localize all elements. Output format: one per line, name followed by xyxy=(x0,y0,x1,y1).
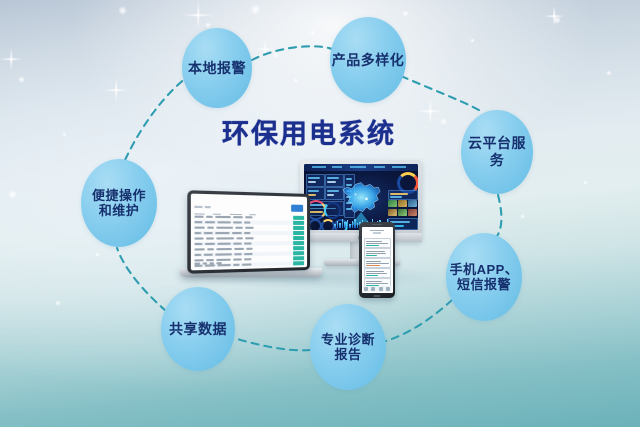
status-badge xyxy=(293,241,304,245)
smartphone xyxy=(359,222,395,298)
status-badge xyxy=(293,231,304,234)
gauge-chart xyxy=(321,219,335,230)
list-item[interactable] xyxy=(364,268,391,278)
connector-product-to-cloud xyxy=(401,76,482,112)
connector-cloud-to-app xyxy=(494,195,501,240)
feature-bubble-label: 本地报警 xyxy=(188,60,246,77)
table-row[interactable] xyxy=(194,225,304,230)
feature-bubble-label: 专业诊断 报告 xyxy=(321,332,375,363)
feature-bubble-shared-data[interactable]: 共享数据 xyxy=(161,287,235,371)
feature-bubble-label: 云平台服务 xyxy=(461,135,533,168)
phone-app-header xyxy=(365,229,390,235)
connector-report-to-data xyxy=(234,338,310,350)
feature-bubble-label: 产品多样化 xyxy=(332,52,405,69)
gauge-chart xyxy=(308,219,322,230)
table-toolbar xyxy=(194,197,304,205)
list-item[interactable] xyxy=(364,258,391,268)
feature-bubble-mobile-app-sms[interactable]: 手机APP、 短信报警 xyxy=(446,233,522,321)
analytics-dashboard xyxy=(304,164,418,230)
poster-canvas: 环保用电系统 xyxy=(0,0,640,427)
camera-tile xyxy=(388,200,397,207)
table-row[interactable] xyxy=(194,220,304,225)
feature-bubble-diagnostic-report[interactable]: 专业诊断 报告 xyxy=(310,304,386,390)
phone-speaker xyxy=(372,224,382,226)
camera-tile xyxy=(398,200,407,207)
status-badge xyxy=(293,221,304,225)
list-item[interactable] xyxy=(364,248,391,258)
connector-local-to-product xyxy=(252,46,334,60)
table-row[interactable] xyxy=(194,231,304,235)
feature-bubble-label: 便捷操作 和维护 xyxy=(92,188,146,219)
camera-tile xyxy=(398,209,407,216)
phone-bottom-nav[interactable] xyxy=(363,286,392,292)
table-filter-bar xyxy=(194,205,304,212)
laptop-screen xyxy=(191,194,307,271)
status-badge xyxy=(293,236,304,239)
camera-tile xyxy=(408,209,417,216)
nav-icon-alert[interactable] xyxy=(379,287,383,291)
feature-bubble-product-diversity[interactable]: 产品多样化 xyxy=(330,17,406,103)
nav-icon-home[interactable] xyxy=(364,287,368,291)
camera-tile xyxy=(388,209,397,216)
dashboard-header-bar xyxy=(304,164,418,171)
connector-data-to-operation xyxy=(117,248,166,311)
feature-bubble-label: 手机APP、 短信报警 xyxy=(450,262,519,293)
nav-icon-list[interactable] xyxy=(371,287,375,291)
dashboard-panel xyxy=(306,174,325,187)
feature-bubble-label: 共享数据 xyxy=(169,321,227,338)
nav-icon-profile[interactable] xyxy=(386,287,390,291)
dashboard-panel xyxy=(388,190,418,200)
table-row[interactable] xyxy=(194,236,304,241)
feature-bubble-easy-operation[interactable]: 便捷操作 和维护 xyxy=(81,159,157,247)
status-badge xyxy=(293,246,304,250)
table-action-button[interactable] xyxy=(291,205,303,212)
status-badge xyxy=(293,226,304,229)
camera-tile xyxy=(408,200,417,207)
list-item[interactable] xyxy=(364,238,391,248)
status-badge xyxy=(293,251,304,255)
status-badge xyxy=(293,216,304,220)
laptop-lid xyxy=(187,190,310,274)
monitor-screen xyxy=(304,164,418,230)
page-title: 环保用电系统 xyxy=(222,112,432,151)
feature-bubble-local-alarm[interactable]: 本地报警 xyxy=(182,28,252,108)
device-group xyxy=(196,160,432,322)
feature-bubble-cloud-platform[interactable]: 云平台服务 xyxy=(461,110,533,194)
phone-screen xyxy=(362,227,393,293)
connector-operation-to-local xyxy=(125,78,186,160)
phone-home-button[interactable] xyxy=(374,295,381,297)
